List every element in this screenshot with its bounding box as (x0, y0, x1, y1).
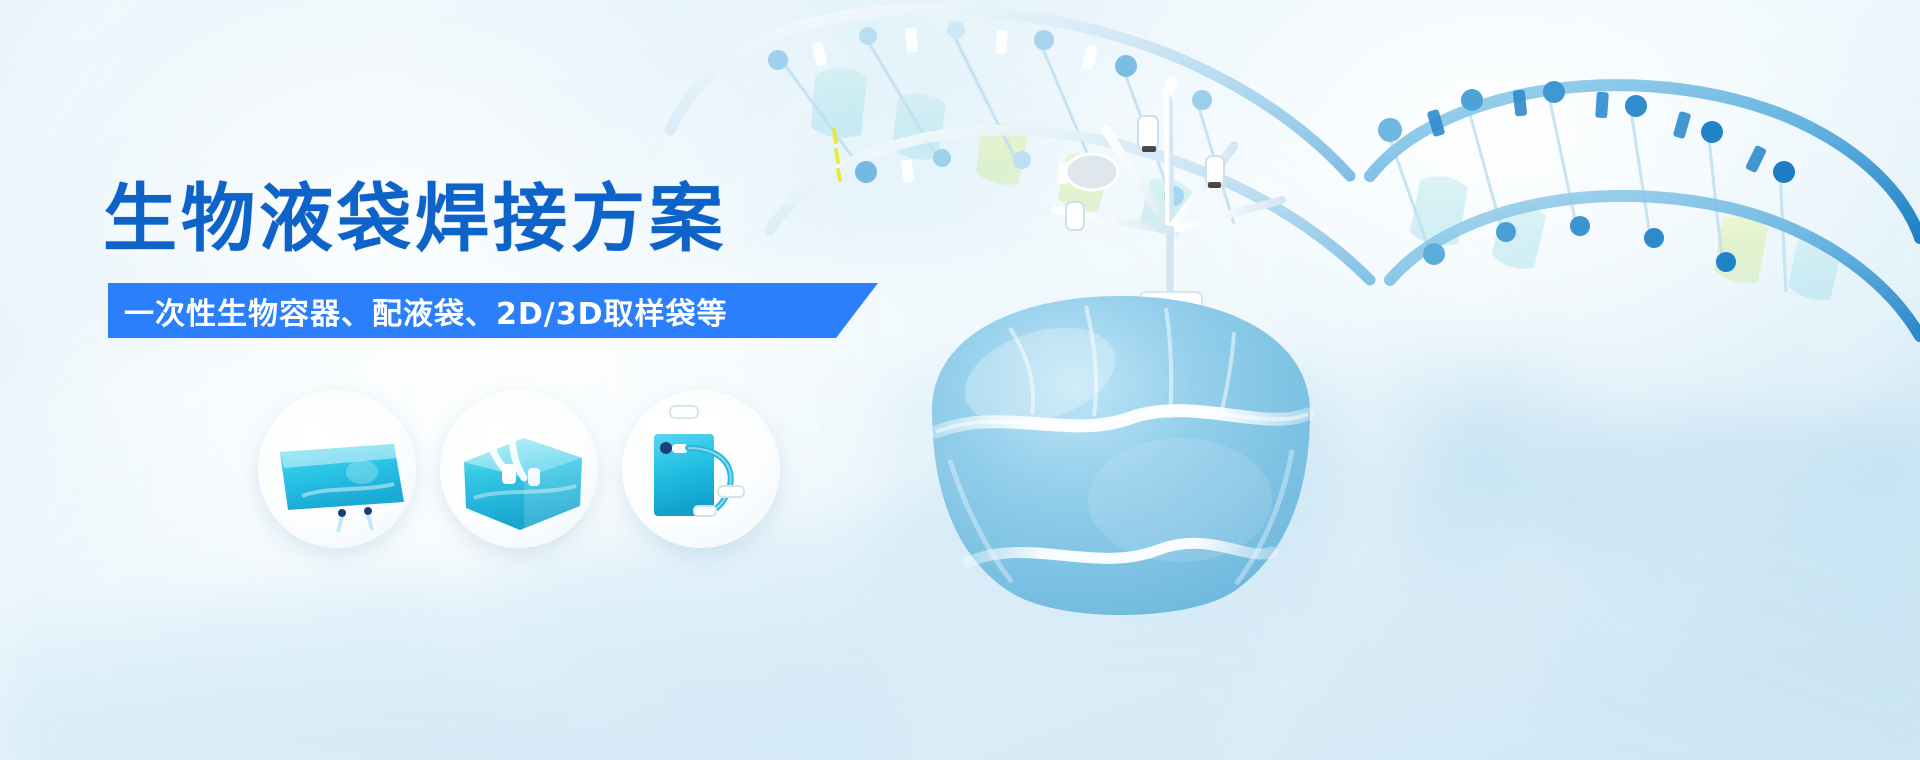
product-circle-3d-bag[interactable] (440, 390, 598, 548)
product-thumbnail-row (250, 382, 830, 562)
bioprocess-bag-image (880, 290, 1360, 630)
page-title: 生物液袋焊接方案 (103, 180, 727, 260)
three-d-bag-icon (440, 390, 598, 548)
liquid-bag-icon (258, 390, 416, 548)
sampling-bag-icon (622, 390, 780, 548)
lab-blur-c (1560, 420, 1920, 760)
product-circle-sampling-bag[interactable] (622, 390, 780, 548)
subtitle-banner: 一次性生物容器、配液袋、2D/3D取样袋等 (108, 283, 878, 338)
hero-banner: 生物液袋焊接方案 一次性生物容器、配液袋、2D/3D取样袋等 (0, 0, 1920, 760)
product-circle-2d-liquid-bag[interactable] (258, 390, 416, 548)
tubing-manifold-icon (1020, 60, 1320, 320)
subtitle-text: 一次性生物容器、配液袋、2D/3D取样袋等 (124, 289, 728, 333)
